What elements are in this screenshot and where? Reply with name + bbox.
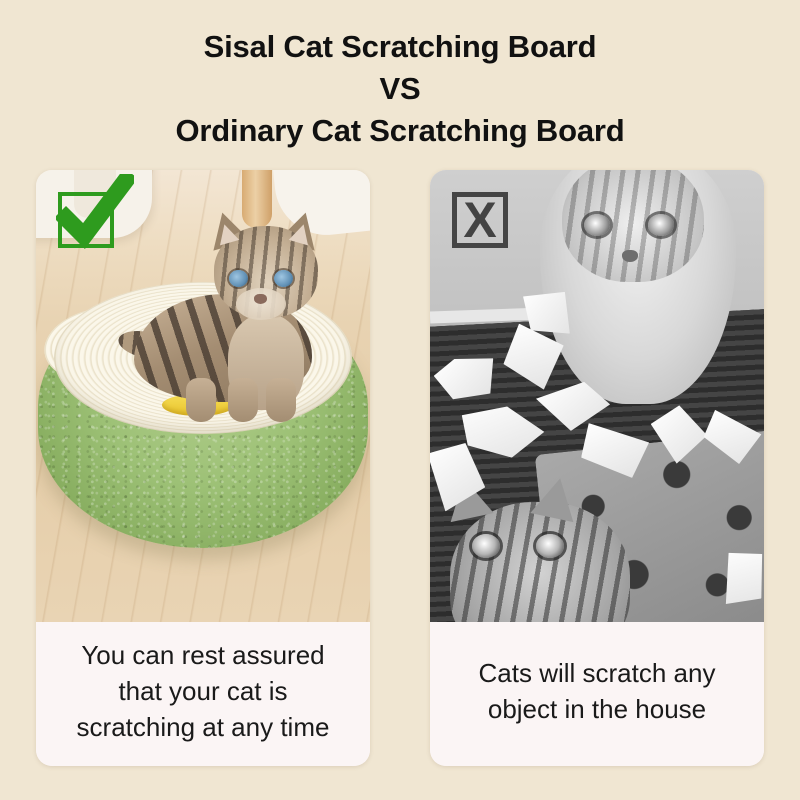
title-line-2: Ordinary Cat Scratching Board bbox=[0, 110, 800, 152]
cross-mark-badge: X bbox=[452, 192, 508, 248]
cross-mark-icon: X bbox=[463, 197, 496, 243]
caption-bad: Cats will scratch any object in the hous… bbox=[430, 622, 764, 766]
caption-good: You can rest assured that your cat is sc… bbox=[36, 622, 370, 766]
kitten-muzzle bbox=[236, 288, 286, 320]
tabby-cat-eye-left bbox=[472, 534, 500, 558]
check-mark-badge bbox=[58, 192, 114, 248]
title-line-1: Sisal Cat Scratching Board bbox=[0, 26, 800, 68]
panel-bad[interactable]: X Cats will scratch any object in the ho… bbox=[430, 170, 764, 766]
title-line-vs: VS bbox=[0, 68, 800, 110]
kitten-eye-right bbox=[274, 270, 293, 287]
kitten-nose bbox=[254, 294, 267, 304]
tabby-cat-eye-right bbox=[536, 534, 564, 558]
caption-good-text: You can rest assured that your cat is sc… bbox=[77, 637, 330, 745]
fluffy-cat-eye-left bbox=[584, 214, 610, 236]
kitten-leg-front bbox=[266, 378, 296, 422]
kitten-eye-left bbox=[229, 270, 248, 287]
fluffy-cat-nose bbox=[622, 250, 638, 262]
photo-sisal-scratching-board bbox=[36, 170, 370, 622]
page-title: Sisal Cat Scratching Board VS Ordinary C… bbox=[0, 26, 800, 152]
panel-good[interactable]: You can rest assured that your cat is sc… bbox=[36, 170, 370, 766]
photo-damaged-household: X bbox=[430, 170, 764, 622]
caption-bad-text: Cats will scratch any object in the hous… bbox=[479, 655, 716, 727]
kitten-leg-middle bbox=[228, 378, 258, 422]
kitten-leg-rear bbox=[186, 378, 216, 422]
tabby-kitten bbox=[132, 182, 322, 442]
fluffy-cat-eye-right bbox=[648, 214, 674, 236]
comparison-row: You can rest assured that your cat is sc… bbox=[0, 170, 800, 770]
